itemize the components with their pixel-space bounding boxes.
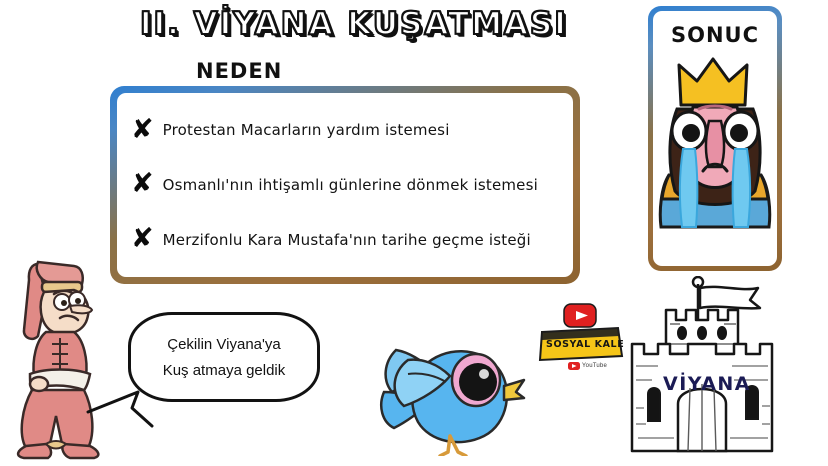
result-card: SONUC — [648, 6, 782, 271]
speech-line-2: Kuş atmaya geldik — [163, 362, 286, 379]
x-mark-icon: ✘ — [131, 116, 154, 143]
reason-text: Osmanlı'nın ihtişamlı günlerine dönmek i… — [163, 176, 538, 194]
reason-text: Protestan Macarların yardım istemesi — [163, 121, 450, 139]
result-card-label: SONUC — [671, 23, 759, 47]
page-title: II. VİYANA KUŞATMASI — [140, 6, 520, 42]
x-mark-icon: ✘ — [131, 170, 154, 197]
list-item: ✘ Osmanlı'nın ihtişamlı günlerine dönmek… — [131, 171, 561, 198]
castle-label: VİYANA — [612, 373, 802, 395]
speech-bubble-tail — [86, 386, 156, 434]
castle-graphic — [612, 276, 802, 461]
list-item: ✘ Merzifonlu Kara Mustafa'nın tarihe geç… — [131, 226, 561, 253]
speech-bubble: Çekilin Viyana'ya Kuş atmaya geldik — [128, 312, 320, 402]
castle-flag-icon — [700, 287, 760, 309]
castle-illustration: VİYANA — [612, 276, 802, 461]
reasons-list: ✘ Protestan Macarların yardım istemesi ✘… — [117, 93, 573, 277]
list-item: ✘ Protestan Macarların yardım istemesi — [131, 117, 561, 144]
result-card-body: SONUC — [653, 11, 777, 266]
crying-king-emote-icon — [655, 51, 775, 241]
speech-line-1: Çekilin Viyana'ya — [167, 336, 280, 353]
channel-logo-subtitle: YouTube — [582, 363, 607, 369]
x-mark-icon: ✘ — [131, 225, 154, 252]
slide-canvas: II. VİYANA KUŞATMASI NEDEN ✘ Protestan M… — [0, 0, 828, 466]
reason-text: Merzifonlu Kara Mustafa'nın tarihe geçme… — [163, 231, 531, 249]
reasons-panel: ✘ Protestan Macarların yardım istemesi ✘… — [110, 86, 580, 284]
blue-bird-figure — [378, 332, 528, 456]
section-heading-neden: NEDEN — [196, 59, 282, 83]
